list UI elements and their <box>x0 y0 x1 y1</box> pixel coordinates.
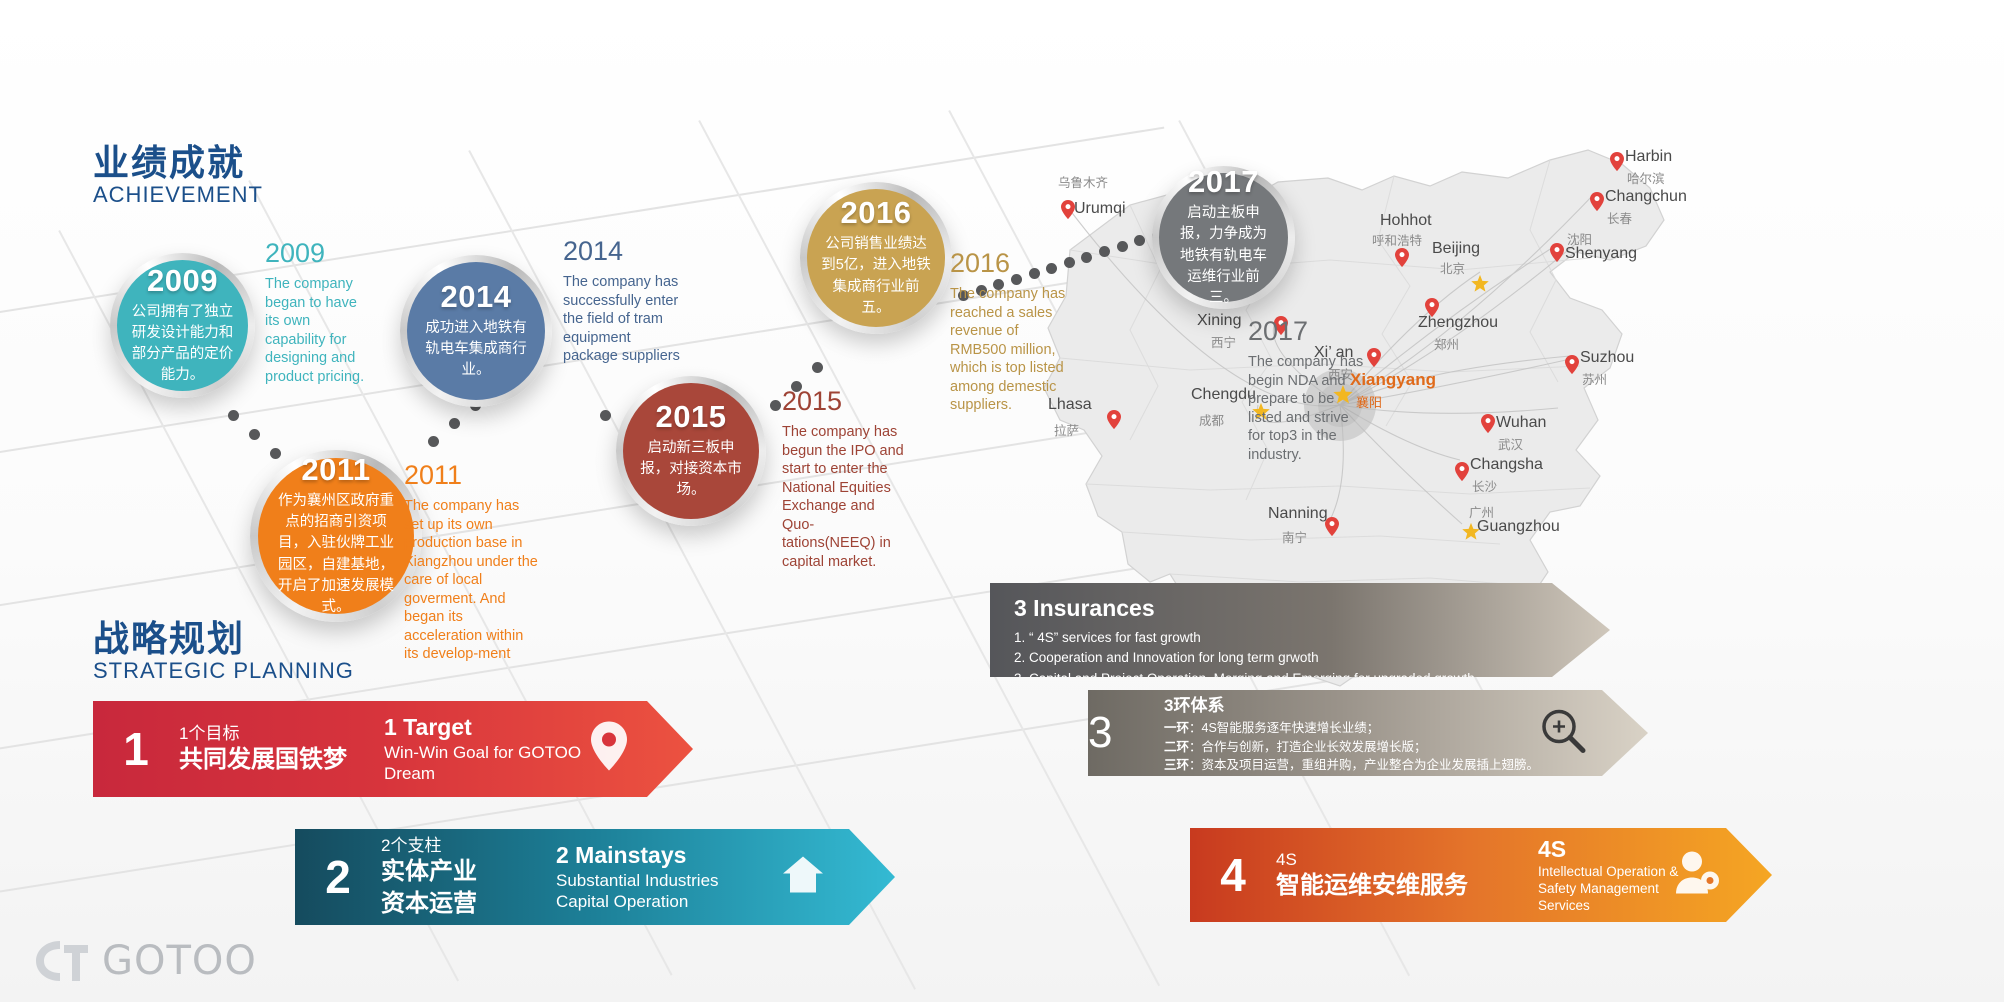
strategic-heading-en: STRATEGIC PLANNING <box>93 658 354 684</box>
circle-inner: 2011 作为襄州区政府重点的招商引资项目，入驻伙牌工业园区，自建基地，开启了加… <box>258 458 414 614</box>
timeline-label-2009: 2009 The company began to have its own c… <box>265 240 370 386</box>
label-desc: The company has successfully enter the f… <box>563 273 685 366</box>
circle-year: 2011 <box>301 454 370 485</box>
connector-dot <box>770 400 781 411</box>
timeline-circle-2017[interactable]: 2017 启动主板申报，力争成为地铁有轨电车运维行业前三。 <box>1152 166 1295 309</box>
timeline-label-2015: 2015 The company has begun the IPO and s… <box>782 388 904 571</box>
circle-year: 2014 <box>441 281 512 312</box>
circle-year: 2016 <box>841 197 912 228</box>
circle-year: 2017 <box>1188 166 1259 197</box>
circle-inner: 2017 启动主板申报，力争成为地铁有轨电车运维行业前三。 <box>1159 173 1288 302</box>
four-s-number: 4 <box>1190 852 1276 898</box>
strategy-bar-2-en: 2 Mainstays Substantial Industries Capit… <box>556 841 806 912</box>
four-s-cn-small: 4S <box>1276 849 1538 870</box>
city-label-cn: 武汉 <box>1498 434 1523 453</box>
circle-text: 公司拥有了独立研发设计能力和部分产品的定价能力。 <box>131 302 234 386</box>
label-year: 2015 <box>782 388 904 415</box>
connector-dot <box>428 436 439 447</box>
city-label-cn: 广州 <box>1469 502 1494 521</box>
circle-inner: 2016 公司销售业绩达到5亿，进入地铁集成商行业前五。 <box>807 189 945 327</box>
city-label-cn: 北京 <box>1440 258 1465 277</box>
achievement-heading-cn: 业绩成就 <box>93 144 263 182</box>
strategy-bar-1-en: 1 Target Win-Win Goal for GOTOO Dream <box>384 713 594 784</box>
strategy-bar-2-cn-big: 实体产业 资本运营 <box>381 856 556 918</box>
city-label-cn: 南宁 <box>1282 527 1307 546</box>
timeline-circle-2011[interactable]: 2011 作为襄州区政府重点的招商引资项目，入驻伙牌工业园区，自建基地，开启了加… <box>250 450 422 622</box>
label-desc: The company has reached a sales revenue … <box>950 285 1068 415</box>
strategic-heading-cn: 战略规划 <box>93 620 354 658</box>
city-label-en: Suzhou <box>1580 349 1634 367</box>
strategy-bar-1[interactable]: 1 1个目标 共同发展国铁梦 1 Target Win-Win Goal for… <box>93 701 693 797</box>
circle-text: 作为襄州区政府重点的招商引资项目，入驻伙牌工业园区，自建基地，开启了加速发展模式… <box>272 491 400 617</box>
label-year: 2011 <box>404 462 540 489</box>
strategy-bar-2-en-small: Substantial Industries Capital Operation <box>556 870 806 913</box>
city-label-en: Wuhan <box>1496 414 1546 432</box>
three-ring-item-val: ：资本及项目运营，重组并购，产业整合为企业发展插上翅膀。 <box>1189 758 1539 772</box>
city-label-en: Beijing <box>1432 240 1480 258</box>
circle-year: 2009 <box>147 265 218 296</box>
strategy-bar-1-cn-big: 共同发展国铁梦 <box>179 744 384 775</box>
city-label-en: Chengdu <box>1191 386 1256 404</box>
strategy-bar-1-cn: 1个目标 共同发展国铁梦 <box>179 723 384 775</box>
city-label-en: Changsha <box>1470 456 1543 474</box>
city-label-cn: 沈阳 <box>1567 229 1592 248</box>
city-label-cn: 呼和浩特 <box>1372 230 1422 249</box>
insurances-item: 1. “ 4S” services for fast growth <box>1014 628 1610 648</box>
timeline-circle-2009[interactable]: 2009 公司拥有了独立研发设计能力和部分产品的定价能力。 <box>110 253 255 398</box>
label-desc: The company began to have its own capabi… <box>265 275 370 386</box>
city-label-cn: 长春 <box>1607 208 1632 227</box>
city-label-en: Xining <box>1197 312 1241 330</box>
gotoo-logo-text: GOTOO <box>102 938 257 984</box>
connector-dot <box>812 362 823 373</box>
strategy-bar-2-cn: 2个支柱 实体产业 资本运营 <box>381 835 556 919</box>
magnifier-icon <box>1540 708 1586 759</box>
infographic-canvas: Harbin哈尔滨Changchun长春Shenyang沈阳Beijing北京H… <box>0 0 2004 1002</box>
house-icon <box>781 853 825 902</box>
user-gear-icon <box>1674 849 1720 902</box>
circle-text: 启动主板申报，力争成为地铁有轨电车运维行业前三。 <box>1173 203 1274 308</box>
three-ring-item: 三环：资本及项目运营，重组并购，产业整合为企业发展插上翅膀。 <box>1164 756 1648 775</box>
insurances-item: 2. Cooperation and Innovation for long t… <box>1014 648 1610 668</box>
city-label-cn: 拉萨 <box>1054 420 1079 439</box>
four-s-cn-big: 智能运维安维服务 <box>1276 870 1538 901</box>
label-desc: The company has begun the IPO and start … <box>782 423 904 571</box>
circle-inner: 2014 成功进入地铁有轨电车集成商行业。 <box>407 262 545 400</box>
timeline-label-2014: 2014 The company has successfully enter … <box>563 238 685 366</box>
achievement-heading: 业绩成就 ACHIEVEMENT <box>93 144 263 208</box>
label-year: 2014 <box>563 238 685 265</box>
timeline-label-2017: 2017 The company has begin NDA and prepa… <box>1248 318 1368 464</box>
connector-dot <box>600 410 611 421</box>
city-label-en: Urumqi <box>1074 200 1126 218</box>
circle-year: 2015 <box>656 401 727 432</box>
city-label-en: Changchun <box>1605 188 1687 206</box>
four-s-bar[interactable]: 4 4S 智能运维安维服务 4S Intellectual Operation … <box>1190 828 1772 922</box>
circle-inner: 2015 启动新三板申报，对接资本市场。 <box>623 383 759 519</box>
insurances-bar[interactable]: 3 Insurances 1. “ 4S” services for fast … <box>990 583 1610 677</box>
strategy-bar-2-cn-small: 2个支柱 <box>381 835 556 856</box>
label-desc: The company has begin NDA and prepare to… <box>1248 353 1368 464</box>
city-label-en: Hohhot <box>1380 212 1432 230</box>
strategic-heading: 战略规划 STRATEGIC PLANNING <box>93 620 354 684</box>
gotoo-logo[interactable]: GOTOO <box>30 935 257 987</box>
four-s-cn: 4S 智能运维安维服务 <box>1276 849 1538 901</box>
city-label-en: Nanning <box>1268 505 1328 523</box>
connector-dot <box>449 418 460 429</box>
strategy-bar-2-number: 2 <box>295 854 381 900</box>
connector-dot <box>249 429 260 440</box>
city-label-cn: 哈尔滨 <box>1627 168 1665 187</box>
achievement-heading-en: ACHIEVEMENT <box>93 182 263 208</box>
city-label-en: Harbin <box>1625 148 1672 166</box>
circle-text: 启动新三板申报，对接资本市场。 <box>637 438 745 501</box>
three-ring-item-val: ：4S智能服务逐年快速增长业绩； <box>1189 721 1379 735</box>
gt-monogram-icon <box>30 935 92 987</box>
three-ring-item-key: 二环 <box>1164 740 1189 754</box>
city-label-cn: 西宁 <box>1211 332 1236 351</box>
strategy-bar-1-cn-small: 1个目标 <box>179 723 384 744</box>
location-pin-icon <box>589 721 629 778</box>
connector-dot <box>1117 241 1128 252</box>
strategy-bar-1-number: 1 <box>93 726 179 772</box>
strategy-bar-2[interactable]: 2 2个支柱 实体产业 资本运营 2 Mainstays Substantial… <box>295 829 895 925</box>
city-label-cn: 郑州 <box>1434 334 1459 353</box>
label-year: 2016 <box>950 250 1068 277</box>
insurances-title: 3 Insurances <box>1014 595 1610 622</box>
city-label-en: Zhengzhou <box>1418 314 1498 332</box>
timeline-circle-2014[interactable]: 2014 成功进入地铁有轨电车集成商行业。 <box>400 255 552 407</box>
strategy-bar-1-en-small: Win-Win Goal for GOTOO Dream <box>384 742 594 785</box>
timeline-circle-2016[interactable]: 2016 公司销售业绩达到5亿，进入地铁集成商行业前五。 <box>800 182 952 334</box>
city-label-cn: 成都 <box>1199 410 1224 429</box>
label-year: 2009 <box>265 240 370 267</box>
connector-dot <box>228 410 239 421</box>
city-label-cn: 长沙 <box>1472 476 1497 495</box>
label-year: 2017 <box>1248 318 1368 345</box>
strategy-bar-1-en-big: 1 Target <box>384 713 594 742</box>
timeline-circle-2015[interactable]: 2015 启动新三板申报，对接资本市场。 <box>616 376 766 526</box>
label-desc: The company has set up its own productio… <box>404 497 540 664</box>
three-ring-number: 3 <box>1088 708 1164 758</box>
three-ring-item-key: 三环 <box>1164 758 1189 772</box>
city-label-cn: 乌鲁木齐 <box>1058 172 1108 191</box>
city-label-cn: 苏州 <box>1582 369 1607 388</box>
three-ring-item-val: ：合作与创新，打造企业长效发展增长版； <box>1189 740 1427 754</box>
circle-inner: 2009 公司拥有了独立研发设计能力和部分产品的定价能力。 <box>117 260 248 391</box>
timeline-label-2011: 2011 The company has set up its own prod… <box>404 462 540 664</box>
three-ring-bar[interactable]: 3 3环体系 一环：4S智能服务逐年快速增长业绩； 二环：合作与创新，打造企业长… <box>1088 690 1648 776</box>
circle-text: 成功进入地铁有轨电车集成商行业。 <box>421 318 531 381</box>
three-ring-item-key: 一环 <box>1164 721 1189 735</box>
timeline-label-2016: 2016 The company has reached a sales rev… <box>950 250 1068 415</box>
strategy-bar-2-en-big: 2 Mainstays <box>556 841 806 870</box>
connector-dot <box>270 448 281 459</box>
circle-text: 公司销售业绩达到5亿，进入地铁集成商行业前五。 <box>821 234 931 318</box>
